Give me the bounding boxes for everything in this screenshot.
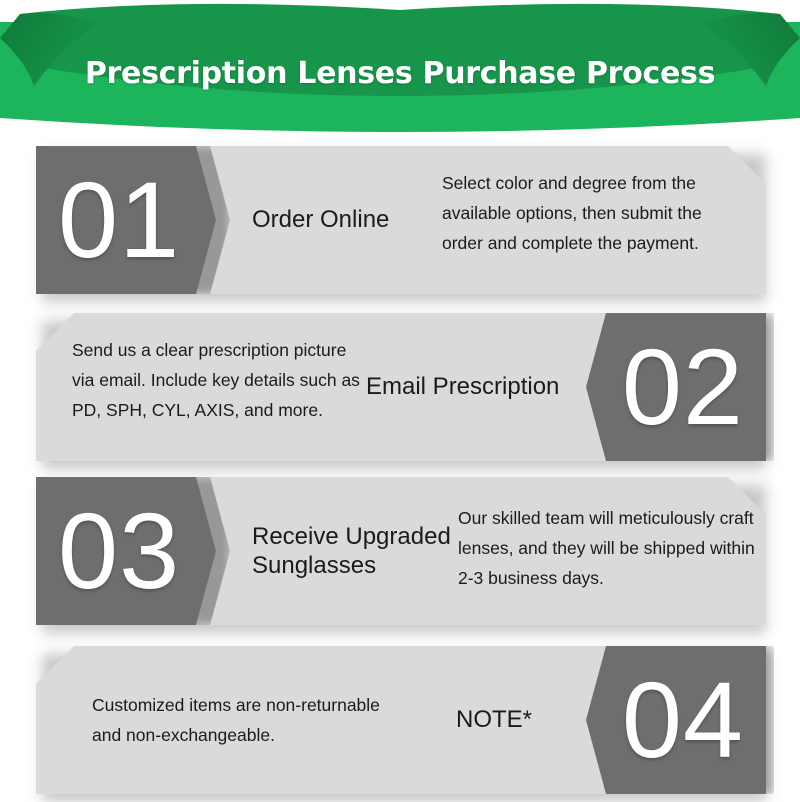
step-number: 03 bbox=[58, 497, 180, 605]
step-description: Our skilled team will meticulously craft… bbox=[458, 477, 758, 625]
step-number: 01 bbox=[58, 166, 180, 274]
step-title: Order Online bbox=[252, 146, 442, 294]
infographic-poster: Prescription Lenses Purchase Process 01 … bbox=[0, 0, 800, 800]
page-title: Prescription Lenses Purchase Process bbox=[0, 0, 800, 132]
step-title: Email Prescription bbox=[366, 313, 596, 461]
step-description: Customized items are non-returnable and … bbox=[92, 646, 392, 794]
step-number-block: 04 bbox=[586, 646, 766, 794]
step-row-4: 04 NOTE* Customized items are non-return… bbox=[36, 646, 766, 794]
step-title: Receive Upgraded Sunglasses bbox=[252, 477, 482, 625]
step-number: 02 bbox=[622, 333, 744, 441]
step-number-block: 01 bbox=[36, 146, 216, 294]
step-title: NOTE* bbox=[456, 646, 586, 794]
step-description: Send us a clear prescription picture via… bbox=[72, 313, 372, 461]
step-row-2: 02 Email Prescription Send us a clear pr… bbox=[36, 313, 766, 461]
header-banner: Prescription Lenses Purchase Process bbox=[0, 0, 800, 132]
step-number: 04 bbox=[622, 666, 744, 774]
step-row-3: 03 Receive Upgraded Sunglasses Our skill… bbox=[36, 477, 766, 625]
step-number-block: 03 bbox=[36, 477, 216, 625]
step-description: Select color and degree from the availab… bbox=[442, 146, 742, 294]
step-number-block: 02 bbox=[586, 313, 766, 461]
step-row-1: 01 Order Online Select color and degree … bbox=[36, 146, 766, 294]
